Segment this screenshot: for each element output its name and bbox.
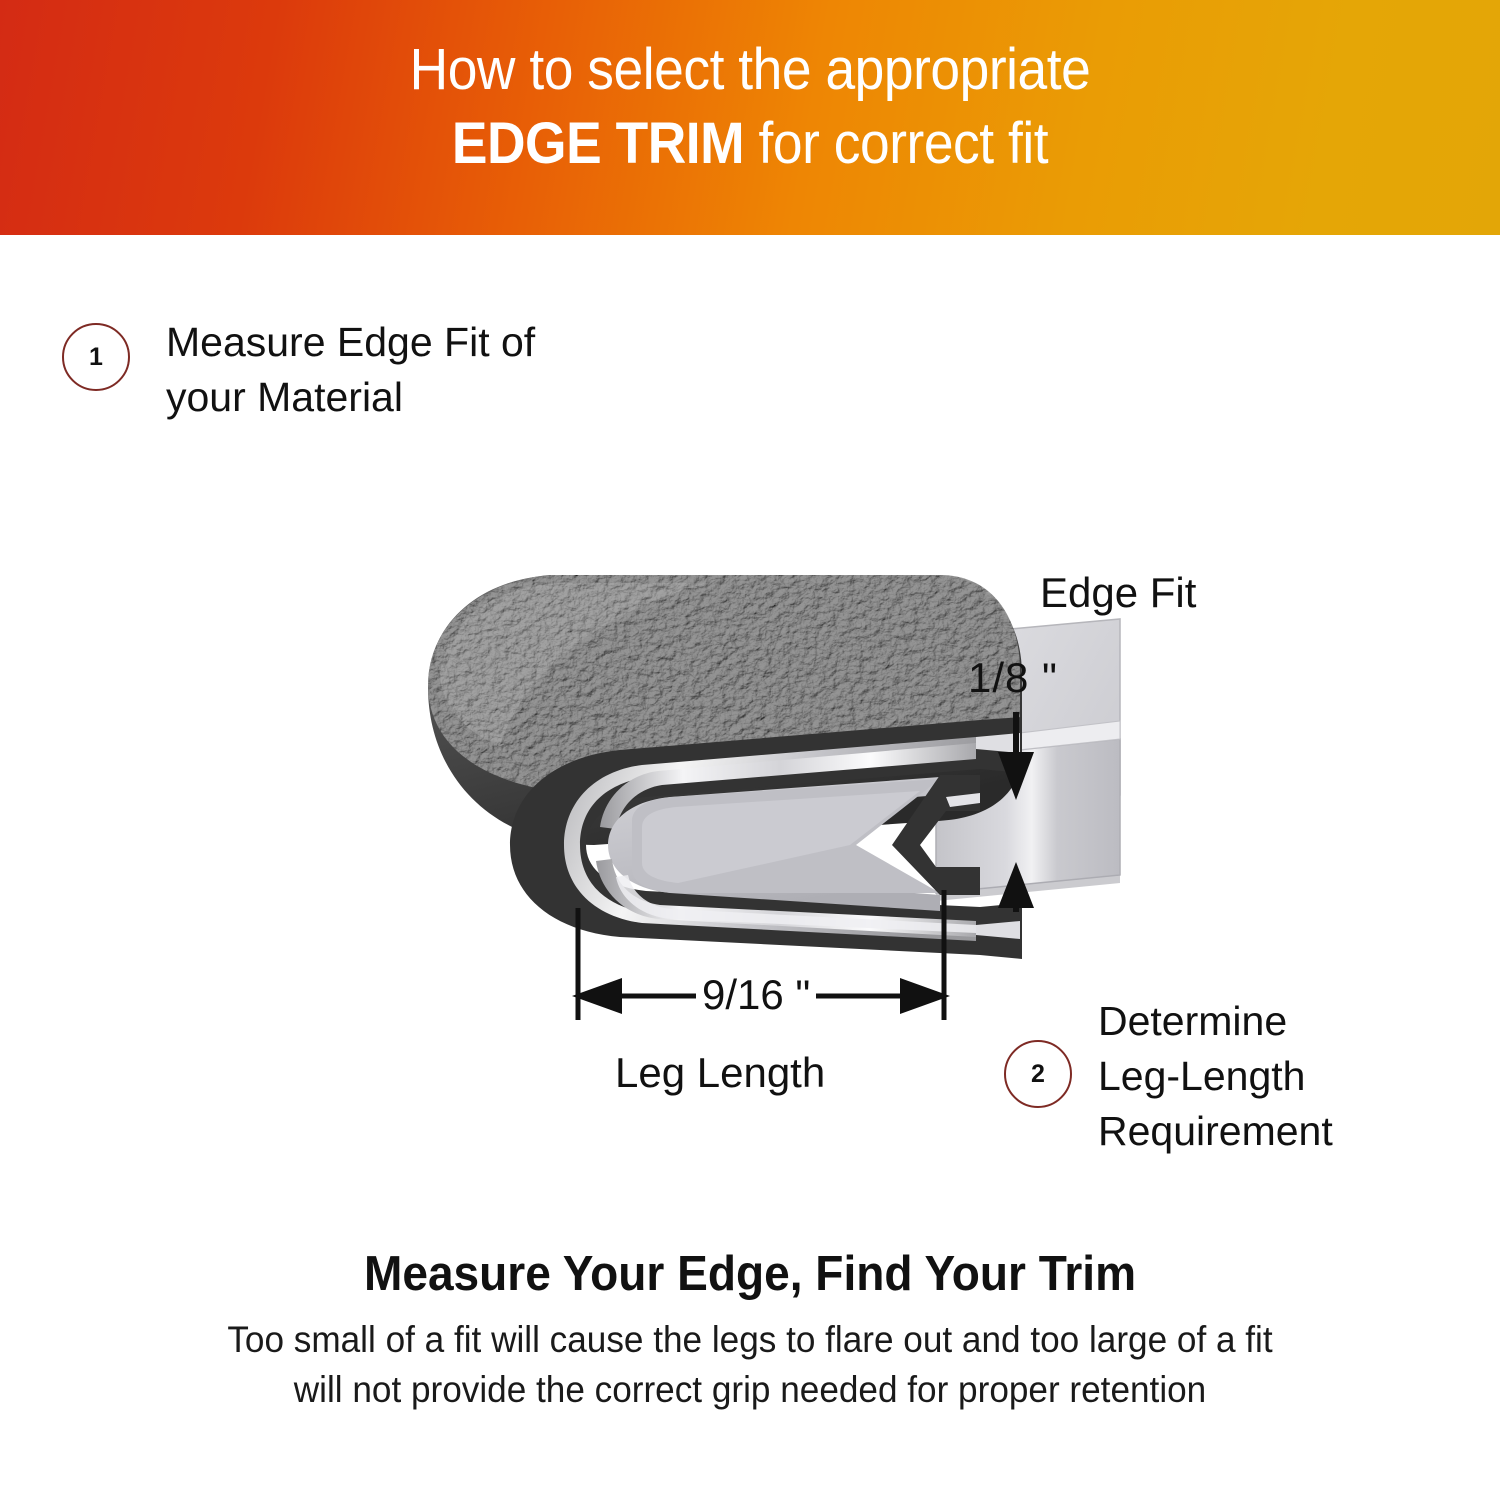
step-2-label: Determine Leg-Length Requirement bbox=[1098, 994, 1333, 1159]
step-1-block: 1 Measure Edge Fit of your Material bbox=[62, 323, 535, 425]
edge-fit-value-label: 1/8 " bbox=[968, 655, 1058, 701]
edge-trim-illustration bbox=[380, 545, 1140, 975]
infographic-page: How to select the appropriate EDGE TRIM … bbox=[0, 0, 1500, 1500]
footer-body-text: Too small of a fit will cause the legs t… bbox=[38, 1315, 1463, 1415]
footer-block: Measure Your Edge, Find Your Trim Too sm… bbox=[0, 1243, 1500, 1415]
header-title-suffix: for correct fit bbox=[744, 111, 1048, 176]
header-title-line-1: How to select the appropriate bbox=[60, 34, 1440, 106]
footer-headline: Measure Your Edge, Find Your Trim bbox=[45, 1243, 1455, 1305]
step-1-label: Measure Edge Fit of your Material bbox=[166, 315, 535, 425]
step-1-number-badge: 1 bbox=[62, 323, 130, 391]
edge-fit-label: Edge Fit bbox=[1040, 570, 1196, 616]
step-2-number-badge: 2 bbox=[1004, 1040, 1072, 1108]
header-text-group: How to select the appropriate EDGE TRIM … bbox=[0, 34, 1500, 180]
leg-length-value-label: 9/16 " bbox=[696, 972, 816, 1018]
step-2-block: 2 Determine Leg-Length Requirement bbox=[1004, 1000, 1333, 1159]
leg-length-label: Leg Length bbox=[615, 1050, 825, 1096]
header-title-line-2: EDGE TRIM for correct fit bbox=[60, 108, 1440, 180]
header-banner: How to select the appropriate EDGE TRIM … bbox=[0, 0, 1500, 235]
header-title-emphasis: EDGE TRIM bbox=[452, 111, 744, 176]
